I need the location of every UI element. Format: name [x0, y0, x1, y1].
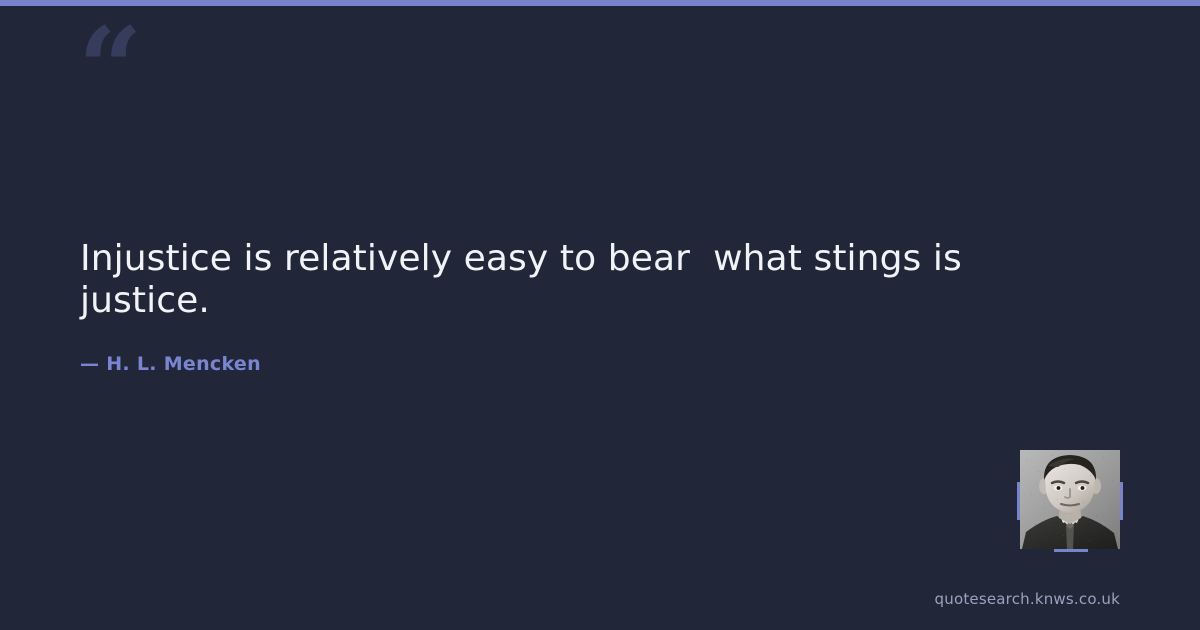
quote-block: Injustice is relatively easy to bear wha…	[80, 238, 1080, 375]
portrait-accent-bottom	[1054, 549, 1088, 552]
quote-text: Injustice is relatively easy to bear wha…	[80, 238, 1080, 322]
portrait-accent-right	[1120, 482, 1123, 520]
author-portrait	[1020, 450, 1120, 549]
portrait-photo	[1020, 450, 1120, 549]
opening-quote-icon: “	[78, 14, 140, 126]
site-url: quotesearch.knws.co.uk	[935, 590, 1120, 608]
quote-attribution: — H. L. Mencken	[80, 353, 1080, 375]
top-accent-bar	[0, 0, 1200, 6]
quote-card: “ Injustice is relatively easy to bear w…	[0, 0, 1200, 630]
